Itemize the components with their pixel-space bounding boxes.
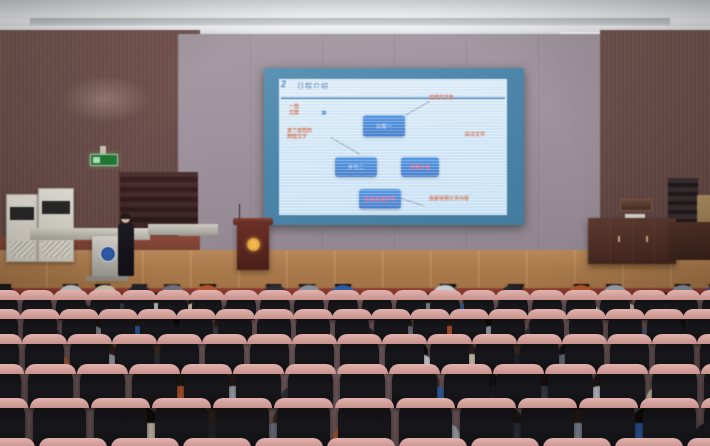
- audience-seat: [546, 442, 608, 446]
- audience-seat: [402, 442, 464, 446]
- lectern: [237, 222, 269, 270]
- stage-cabinet: [588, 218, 676, 264]
- slide-tag-top-right: 说明文字条: [429, 96, 454, 102]
- audience-seat: [42, 442, 104, 446]
- audience-seat: [186, 442, 248, 446]
- connector-line: [405, 101, 430, 116]
- slide-node-3: 专题分享: [401, 157, 439, 177]
- slide-tag-bottom-right: 底部说明文字内容: [429, 197, 469, 203]
- slide-tag-top-left: 一些 文案: [289, 105, 299, 116]
- auditorium-photo: 2 日程介绍 一些 文案 ›››› 某个说明的 简短文字 说明文字条 标注文字 …: [0, 0, 710, 446]
- audience-seat: [114, 442, 176, 446]
- ceiling-slot: [30, 18, 670, 25]
- connector-line: [331, 137, 361, 155]
- audience-seat: [618, 442, 680, 446]
- air-conditioner-unit-2: [38, 188, 74, 262]
- projected-slide: 2 日程介绍 一些 文案 ›››› 某个说明的 简短文字 说明文字条 标注文字 …: [279, 79, 507, 215]
- stage-cabinet-side: [668, 222, 710, 260]
- slide-tag-mid-left: 某个说明的 简短文字: [287, 129, 312, 140]
- audience-seat: [258, 442, 320, 446]
- audience-seat: [474, 442, 536, 446]
- slide-chevron-arrows-icon: ››››: [321, 107, 325, 117]
- slide-number: 2: [281, 79, 286, 89]
- stage-table-right: [148, 224, 218, 235]
- audience-seat: [0, 442, 32, 446]
- audience-seat: [690, 442, 710, 446]
- slide-title-underline: [281, 97, 505, 99]
- podium-emblem-icon: [100, 246, 116, 262]
- audience-seating: [0, 284, 710, 446]
- slide-tag-mid-right: 标注文字: [465, 133, 485, 139]
- audience-seat: [330, 442, 392, 446]
- slide-node-4: 互动交流环节: [359, 189, 401, 209]
- lectern-emblem-icon: [247, 238, 260, 251]
- wall-light-reflection: [60, 75, 150, 123]
- slide-title: 日程介绍: [297, 81, 329, 91]
- exit-sign-icon: [90, 154, 118, 166]
- slide-node-1: 议程一: [363, 115, 405, 137]
- wall-plaque: [620, 199, 652, 211]
- speaker-person: [118, 214, 134, 276]
- microphone-icon: [239, 204, 240, 219]
- podium-base: [86, 276, 128, 281]
- slide-node-2: 环节二: [335, 157, 377, 177]
